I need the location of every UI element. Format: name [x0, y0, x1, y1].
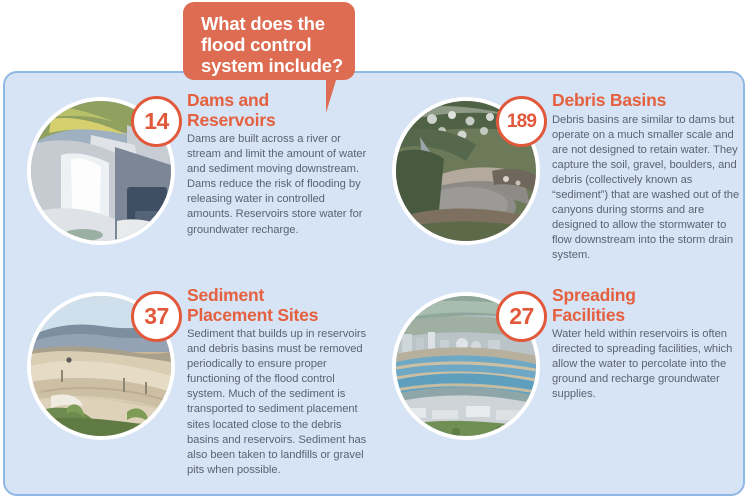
count-badge-number: 27 [509, 305, 534, 328]
count-badge: 27 [496, 291, 547, 342]
speech-bubble-tail [326, 77, 356, 113]
info-item-copy: Spreading Facilities Water held within r… [552, 286, 740, 402]
speech-bubble-question: What does the flood control system inclu… [183, 2, 355, 80]
speech-bubble-text: What does the flood control system inclu… [201, 13, 355, 76]
flood-control-infographic-panel: 14 Dams and Reservoirs Dams are built ac… [3, 71, 745, 496]
info-item-body: Water held within reservoirs is often di… [552, 327, 740, 402]
info-item-body: Dams are built across a river or stream … [187, 132, 372, 238]
count-badge-number: 37 [144, 305, 169, 328]
count-badge-number: 14 [144, 110, 169, 133]
info-item-copy: Sediment Placement Sites Sediment that b… [187, 286, 372, 478]
count-badge: 37 [131, 291, 182, 342]
info-item-title: Sediment Placement Sites [187, 286, 372, 325]
info-item-title: Debris Basins [552, 91, 740, 111]
info-item-body: Debris basins are similar to dams but op… [552, 113, 740, 264]
count-badge: 189 [496, 96, 547, 147]
info-item-body: Sediment that builds up in reservoirs an… [187, 327, 372, 478]
count-badge-number: 189 [507, 110, 536, 133]
info-item-title: Spreading Facilities [552, 286, 740, 325]
info-item-copy: Debris Basins Debris basins are similar … [552, 91, 740, 263]
count-badge: 14 [131, 96, 182, 147]
